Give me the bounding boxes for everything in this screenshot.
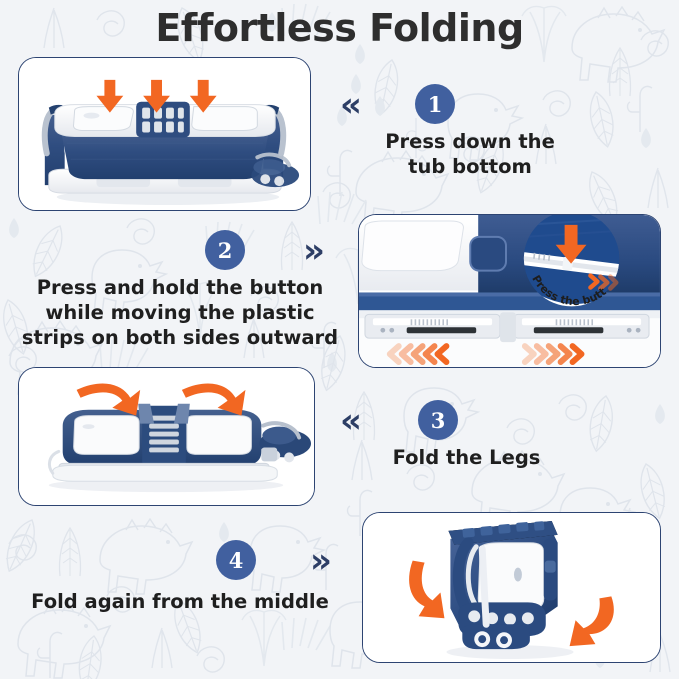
step-4-text: Fold again from the middle <box>20 590 340 615</box>
step-1: « 1 Press down the tub bottom <box>340 80 660 190</box>
page-title: Effortless Folding <box>0 6 679 50</box>
step-badge-3: 3 <box>418 400 458 440</box>
chevron-left-icon: « <box>340 88 358 122</box>
chevron-left-icon: « <box>340 404 358 438</box>
photo-card-step-1 <box>18 57 311 211</box>
step-badge-1: 1 <box>415 84 455 124</box>
chevron-right-icon: » <box>310 544 328 578</box>
chevron-right-icon: » <box>303 234 321 268</box>
step-3-text: Fold the Legs <box>340 446 593 471</box>
step-2: 2 » Press and hold the button while movi… <box>20 228 340 343</box>
tub-flat-illustration <box>19 368 314 506</box>
tub-button-closeup-illustration: Press the button <box>359 215 660 368</box>
step-3: « 3 Fold the Legs <box>340 398 660 498</box>
photo-card-step-3 <box>18 367 315 506</box>
step-4: 4 » Fold again from the middle <box>20 538 340 638</box>
photo-card-step-2: Press the button <box>358 214 661 368</box>
step-1-text: Press down the tub bottom <box>340 130 600 180</box>
step-2-text: Press and hold the button while moving t… <box>20 276 340 351</box>
step-badge-4: 4 <box>216 540 256 580</box>
step-badge-2: 2 <box>205 230 245 270</box>
infographic-page: Effortless Folding <box>0 0 679 679</box>
tub-folded-upright-illustration <box>363 513 660 663</box>
tub-upright-illustration <box>19 58 310 211</box>
photo-card-step-4 <box>362 512 661 663</box>
